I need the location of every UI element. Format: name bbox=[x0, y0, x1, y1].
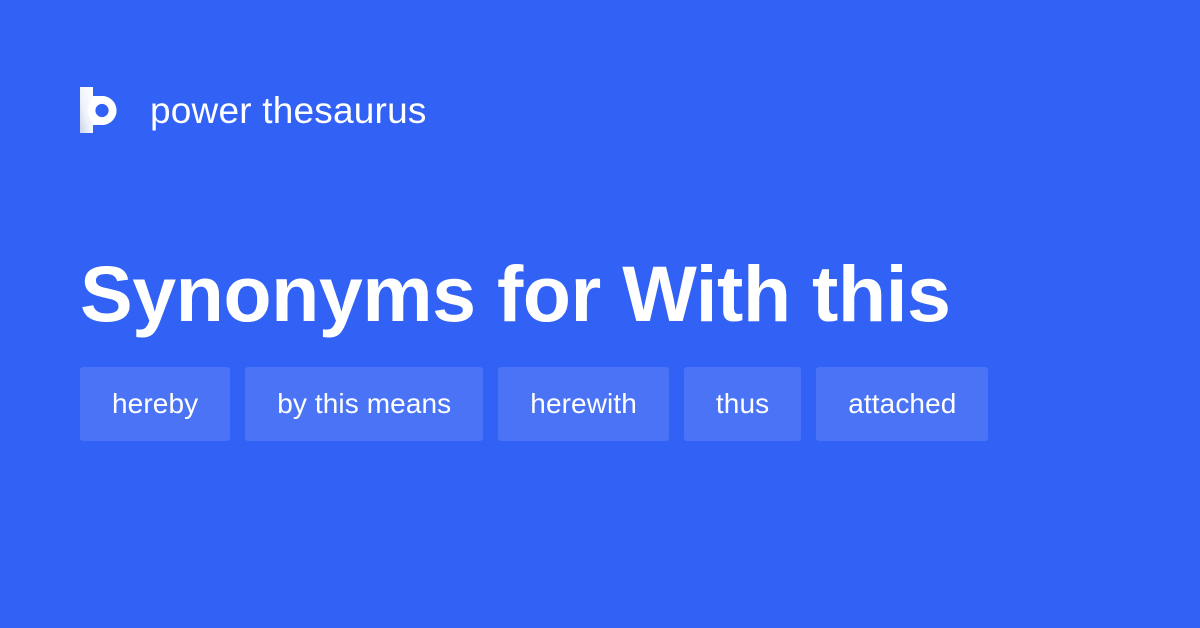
synonym-chip-list: hereby by this means herewith thus attac… bbox=[80, 367, 1130, 441]
synonyms-share-card: power thesaurus Synonyms for With this h… bbox=[0, 0, 1200, 628]
synonym-chip[interactable]: thus bbox=[684, 367, 801, 441]
synonym-chip[interactable]: by this means bbox=[245, 367, 483, 441]
synonym-chip[interactable]: attached bbox=[816, 367, 988, 441]
page-title: Synonyms for With this bbox=[80, 253, 1120, 335]
brand-name: power thesaurus bbox=[150, 92, 427, 129]
synonym-chip[interactable]: hereby bbox=[80, 367, 230, 441]
brand-header[interactable]: power thesaurus bbox=[80, 84, 427, 136]
synonym-chip[interactable]: herewith bbox=[498, 367, 669, 441]
power-thesaurus-b-logo-icon bbox=[80, 87, 124, 133]
